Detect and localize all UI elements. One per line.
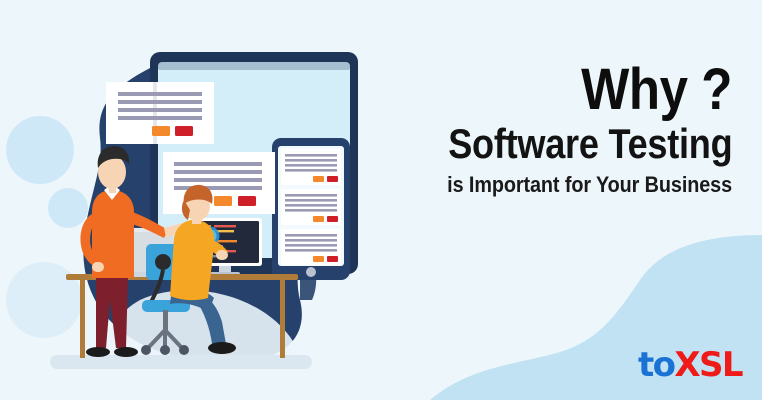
phone-card-1-button-orange <box>313 176 324 182</box>
standing-person-shoe-left <box>86 347 110 357</box>
card-bottom-button-red <box>238 196 256 206</box>
desk-leg-right <box>280 280 285 358</box>
floor-shadow <box>50 355 312 369</box>
phone-card-3 <box>281 229 341 265</box>
chair-wheel-left <box>141 345 151 355</box>
accent-circle-left-bottom <box>6 262 82 338</box>
headline-block: Why ? Software Testing is Important for … <box>402 62 732 201</box>
phone-card-2 <box>281 189 341 225</box>
chair-wheel-right <box>179 345 189 355</box>
chair-back-knob <box>155 254 171 270</box>
phone-card-2-button-red <box>327 216 338 222</box>
phone-card-1-button-red <box>327 176 338 182</box>
toxsl-logo[interactable]: toXSL <box>638 348 742 382</box>
phone-card-1 <box>281 149 341 185</box>
accent-circle-left-upper <box>6 116 74 184</box>
seated-person-neck <box>192 218 201 224</box>
headline-why: Why ? <box>442 62 732 119</box>
tablet-screen-topbar <box>158 62 350 70</box>
headline-main: Software Testing <box>448 119 732 169</box>
standing-person-hand-left <box>92 262 104 272</box>
phone-card-3-button-red <box>327 256 338 262</box>
phone-card-3-button-orange <box>313 256 324 262</box>
card-top-button-orange <box>152 126 170 136</box>
document-card-bottom <box>163 152 275 214</box>
logo-text-to: to <box>638 345 674 385</box>
desk-leg-left <box>80 280 85 358</box>
banner-root: Why ? Software Testing is Important for … <box>0 0 762 400</box>
phone-device <box>272 138 350 280</box>
seated-person-shoe <box>208 342 236 354</box>
logo-text-xsl: XSL <box>674 345 742 385</box>
document-card-top <box>106 82 214 144</box>
seated-person-hand <box>216 250 228 260</box>
headline-sub: is Important for Your Business <box>435 168 732 201</box>
phone-home-button <box>306 267 316 277</box>
card-top-button-red <box>175 126 193 136</box>
accent-circle-left-lower <box>48 188 88 228</box>
standing-person-shoe-right <box>114 347 138 357</box>
card-bottom-button-orange <box>214 196 232 206</box>
standing-person-neck <box>109 186 116 193</box>
seated-person-shirt <box>170 220 214 300</box>
phone-card-2-button-orange <box>313 216 324 222</box>
chair-wheel-center <box>160 345 170 355</box>
